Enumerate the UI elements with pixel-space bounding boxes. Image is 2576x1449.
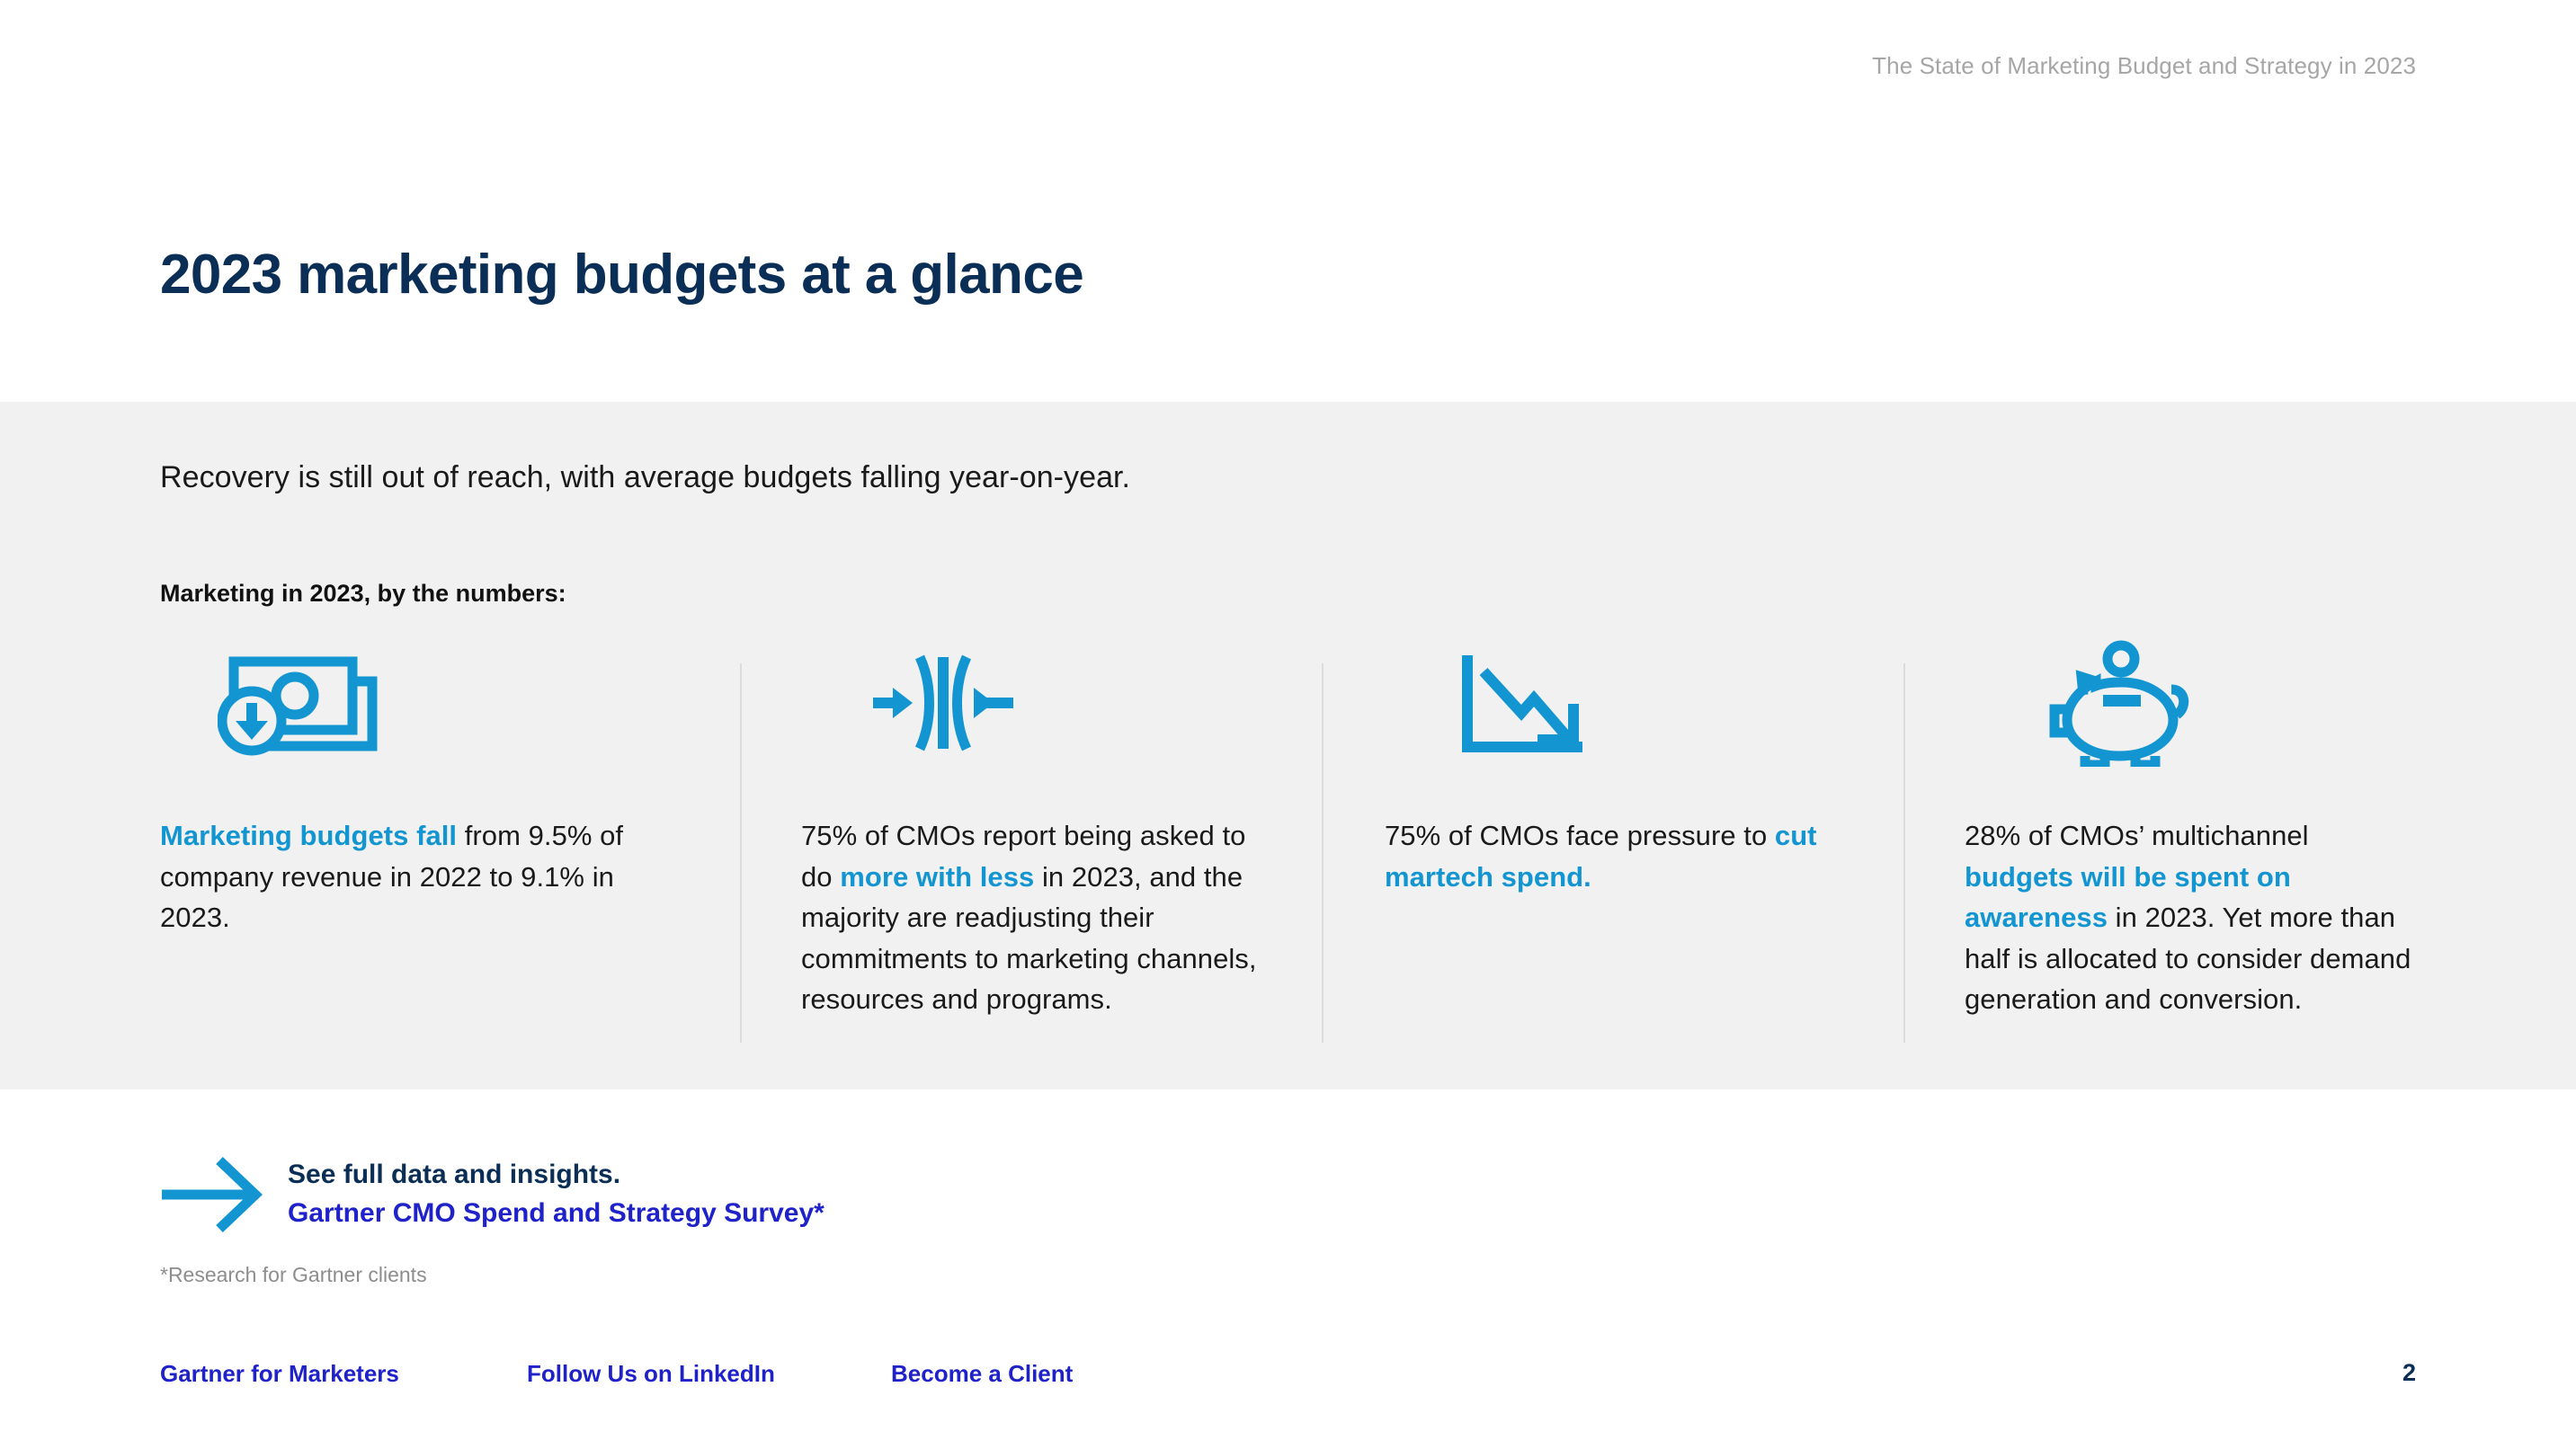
footnote: *Research for Gartner clients — [160, 1263, 427, 1287]
stat-highlight: Marketing budgets fall — [160, 820, 457, 851]
declining-chart-icon — [1385, 640, 1858, 766]
piggy-bank-icon — [1965, 640, 2417, 766]
stat-highlight: more with less — [840, 861, 1034, 893]
footer-links: Gartner for Marketers Follow Us on Linke… — [160, 1360, 1073, 1388]
slide: The State of Marketing Budget and Strate… — [0, 0, 2576, 1449]
stat-column-awareness-budget: 28% of CMOs’ multichannel budgets will b… — [1903, 640, 2417, 1053]
cta-headline: See full data and insights. — [288, 1156, 824, 1195]
document-header-title: The State of Marketing Budget and Strate… — [1872, 52, 2416, 80]
cta-block[interactable]: See full data and insights. Gartner CMO … — [160, 1153, 824, 1236]
banknotes-down-arrow-icon — [160, 640, 686, 766]
stat-text-more-with-less: 75% of CMOs report being asked to do mor… — [801, 815, 1277, 1020]
stat-text-cut-martech: 75% of CMOs face pressure to cut martech… — [1385, 815, 1858, 897]
sub-lead-heading: Marketing in 2023, by the numbers: — [160, 580, 566, 608]
cta-text: See full data and insights. Gartner CMO … — [288, 1156, 824, 1232]
stats-row: Marketing budgets fall from 9.5% of comp… — [160, 640, 2417, 1053]
column-divider — [1903, 663, 1905, 1043]
cta-link-survey[interactable]: Gartner CMO Spend and Strategy Survey* — [288, 1195, 824, 1233]
stat-plain: 28% of CMOs’ multichannel — [1965, 820, 2309, 851]
page-title: 2023 marketing budgets at a glance — [160, 243, 1083, 307]
page-number: 2 — [2402, 1359, 2416, 1387]
stat-text-awareness-budget: 28% of CMOs’ multichannel budgets will b… — [1965, 815, 2417, 1020]
stat-text-budgets-fall: Marketing budgets fall from 9.5% of comp… — [160, 815, 686, 938]
column-divider — [1322, 663, 1324, 1043]
lead-statement: Recovery is still out of reach, with ave… — [160, 460, 1130, 495]
stat-column-cut-martech: 75% of CMOs face pressure to cut martech… — [1322, 640, 1903, 1053]
stat-column-budgets-fall: Marketing budgets fall from 9.5% of comp… — [160, 640, 740, 1053]
squeeze-compress-icon — [801, 640, 1277, 766]
stat-column-more-with-less: 75% of CMOs report being asked to do mor… — [740, 640, 1322, 1053]
footer-link-become-a-client[interactable]: Become a Client — [891, 1360, 1073, 1388]
column-divider — [740, 663, 742, 1043]
right-arrow-icon — [160, 1153, 264, 1236]
footer-link-gartner-for-marketers[interactable]: Gartner for Marketers — [160, 1360, 527, 1388]
stat-plain: 75% of CMOs face pressure to — [1385, 820, 1775, 851]
footer-link-follow-linkedin[interactable]: Follow Us on LinkedIn — [527, 1360, 891, 1388]
